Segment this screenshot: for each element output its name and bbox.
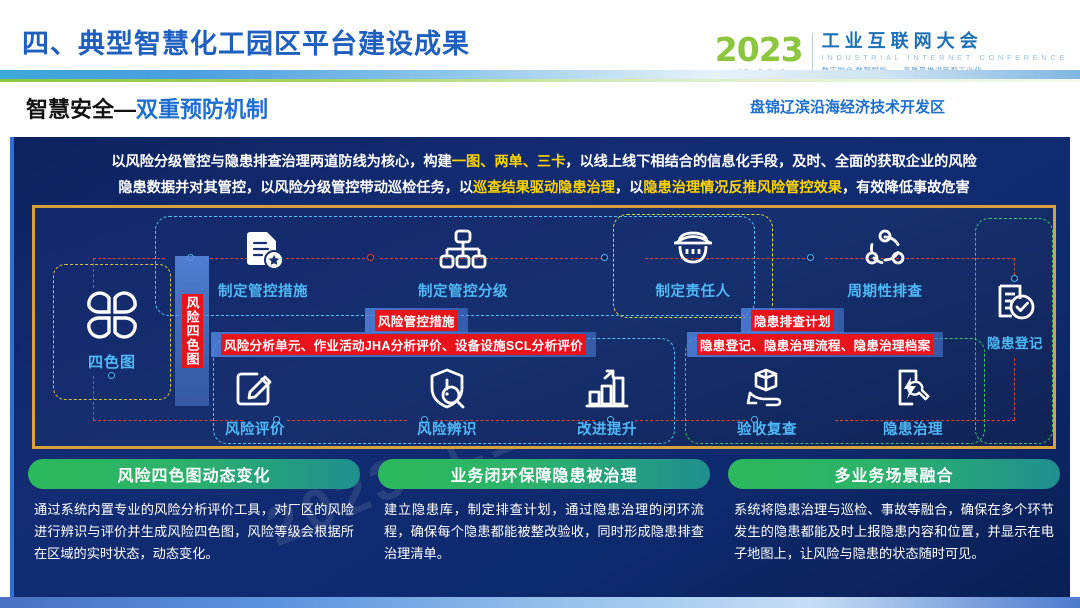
node-risk-evaluation[interactable]: 风险评价 (195, 360, 315, 439)
document-star-icon (203, 222, 323, 278)
bar-chart-up-icon (547, 360, 667, 416)
cycle-nodes-icon (825, 222, 945, 278)
section-heading: 智慧安全—双重预防机制 (26, 92, 268, 124)
logo-divider (812, 33, 813, 75)
card-body: 系统将隐患治理与巡检、事故等融合，确保在多个环节发生的隐患都能及时上报隐患内容和… (728, 499, 1060, 565)
node-label: 制定管控分级 (403, 280, 523, 301)
slide-root: 四、典型智慧化工园区平台建设成果 2023 中国·苏州 9月11日-13日 工业… (0, 0, 1080, 608)
node-risk-identification[interactable]: 风险辨识 (387, 360, 507, 439)
card-risk-four-color-dynamic: 风险四色图动态变化 通过系统内置专业的风险分析评价工具，对厂区的风险进行辨识与评… (28, 459, 360, 565)
tag-risk-analysis: 风险分析单元、作业活动JHA分析评价、设备设施SCL分析评价 (211, 332, 596, 357)
connector-dot-3 (601, 254, 608, 261)
card-closed-loop-hazard: 业务闭环保障隐患被治理 建立隐患库，制定排查计划，通过隐患治理的闭环流程，确保每… (378, 459, 710, 565)
worker-helmet-icon (633, 222, 753, 278)
node-label: 周期性排查 (825, 280, 945, 301)
connector-top-1 (93, 258, 165, 259)
node-label: 改进提升 (547, 418, 667, 439)
node-make-control-measures[interactable]: 制定管控措施 (203, 222, 323, 301)
repair-wrench-icon (853, 360, 973, 416)
node-label: 风险辨识 (387, 418, 507, 439)
connector-dot-4 (807, 254, 814, 261)
section-heading-prefix: 智慧安全— (26, 97, 136, 122)
banner-line1-highlight: 一图、两单、三卡 (452, 154, 566, 170)
connector-dot-2 (367, 254, 374, 261)
node-label: 制定管控措施 (203, 280, 323, 301)
subtitle-row: 智慧安全—双重预防机制 盘锦辽滨沿海经济技术开发区 (0, 92, 1080, 126)
card-title: 多业务场景融合 (834, 462, 953, 486)
card-header: 业务闭环保障隐患被治理 (378, 459, 710, 489)
node-label: 验收复查 (707, 418, 827, 439)
node-make-control-grading[interactable]: 制定管控分级 (403, 222, 523, 301)
tag-text: 风险管控措施 (375, 310, 458, 331)
card-title: 风险四色图动态变化 (117, 462, 270, 486)
connector-right-vert-2 (1014, 358, 1015, 420)
node-improvement[interactable]: 改进提升 (547, 360, 667, 439)
logo-title-cn: 工业互联网大会 (822, 32, 1068, 50)
tag-text: 隐患排查计划 (751, 310, 834, 331)
banner-line1-a: 以风险分级管控与隐患排查治理两道防线为核心，构建 (111, 154, 452, 170)
org-tree-icon (403, 222, 523, 278)
node-hazard-treatment[interactable]: 隐患治理 (853, 360, 973, 439)
tag-text: 隐患登记、隐患治理流程、隐患治理档案 (697, 334, 933, 355)
card-title: 业务闭环保障隐患被治理 (450, 462, 637, 486)
four-color-map-label: 四色图 (53, 351, 171, 372)
node-acceptance-recheck[interactable]: 验收复查 (707, 360, 827, 439)
card-body: 通过系统内置专业的风险分析评价工具，对厂区的风险进行辨识与评价并生成风险四色图，… (28, 499, 360, 565)
tag-hazard-records: 隐患登记、隐患治理流程、隐患治理档案 (687, 332, 943, 357)
card-body: 建立隐患库，制定排查计划，通过隐患治理的闭环流程，确保每个隐患都能被整改验收，同… (378, 499, 710, 565)
banner-line2-a: 隐患数据并对其管控，以风险分级管控带动巡检任务，以 (118, 180, 473, 196)
node-label: 制定责任人 (633, 280, 753, 301)
clipboard-check-icon (955, 274, 1070, 330)
header-rule-blue (0, 70, 1080, 79)
banner-line2-b: ，以 (615, 180, 643, 196)
four-petal-icon (77, 280, 147, 355)
banner-line2-highlight-2: 隐患治理情况反推风险管控效果 (643, 180, 842, 196)
page-title: 四、典型智慧化工园区平台建设成果 (22, 22, 470, 61)
section-heading-accent: 双重预防机制 (136, 97, 268, 122)
tag-hazard-inspection-plan: 隐患排查计划 (741, 308, 844, 333)
node-hazard-registration[interactable]: 隐患登记 (955, 274, 1070, 352)
node-label: 隐患登记 (955, 332, 1070, 352)
shield-search-icon (387, 360, 507, 416)
tag-text: 风险分析单元、作业活动JHA分析评价、设备设施SCL分析评价 (221, 334, 586, 355)
dark-content-panel: 2023 工业互联网大会 以风险分级管控与隐患排查治理两道防线为核心，构建一图、… (10, 137, 1070, 597)
card-header: 多业务场景融合 (728, 459, 1060, 489)
edit-pencil-icon (195, 360, 315, 416)
node-label: 隐患治理 (853, 418, 973, 439)
diagram-frame: 四色图 风险四色图 (32, 205, 1056, 449)
logo-year-block: 2023 中国·苏州 9月11日-13日 (715, 33, 803, 75)
summary-banner: 以风险分级管控与隐患排查治理两道防线为核心，构建一图、两单、三卡，以线上线下相结… (28, 149, 1060, 201)
vertical-tag-text: 风险四色图 (182, 294, 203, 368)
logo-year: 2023 (715, 33, 803, 66)
banner-line2-highlight-1: 巡查结果驱动隐患治理 (473, 180, 615, 196)
node-periodic-inspection[interactable]: 周期性排查 (825, 222, 945, 301)
footer-strip (0, 597, 1080, 608)
node-assign-responsible[interactable]: 制定责任人 (633, 222, 753, 301)
banner-line1-b: ，以线上线下相结合的信息化手段，及时、全面的获取企业的风险 (565, 154, 976, 170)
card-multi-scenario-fusion: 多业务场景融合 系统将隐患治理与巡检、事故等融合，确保在多个环节发生的隐患都能及… (728, 459, 1060, 565)
node-label: 风险评价 (195, 418, 315, 439)
logo-title-en: INDUSTRIAL INTERNET CONFERENCE (822, 53, 1068, 62)
tag-risk-control-measures: 风险管控措施 (365, 308, 468, 333)
four-color-map-node[interactable]: 四色图 (53, 264, 171, 400)
banner-line2-c: ，有效降低事故危害 (842, 180, 970, 196)
org-name: 盘锦辽滨沿海经济技术开发区 (750, 96, 945, 117)
diagram-canvas: 四色图 风险四色图 (35, 208, 1053, 446)
box-hand-icon (707, 360, 827, 416)
card-header: 风险四色图动态变化 (28, 459, 360, 489)
header-rule-green (0, 79, 1080, 82)
